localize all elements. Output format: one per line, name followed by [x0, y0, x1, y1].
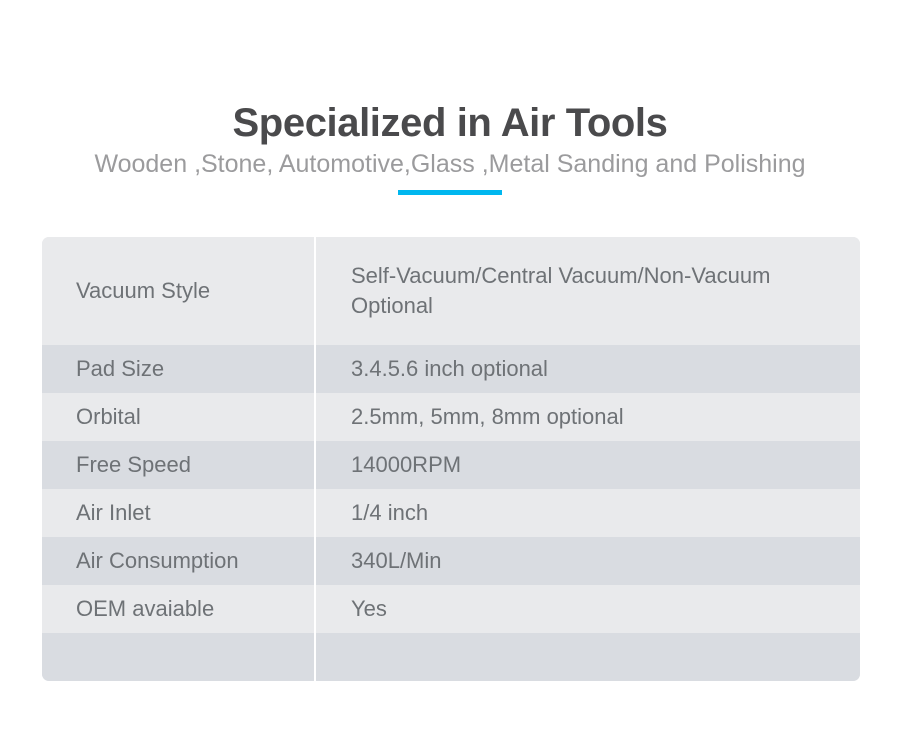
table-row: Air Inlet 1/4 inch — [42, 489, 860, 537]
banner-header: Specialized in Air Tools Wooden ,Stone, … — [0, 100, 900, 196]
spec-value: Self-Vacuum/Central Vacuum/Non-Vacuum Op… — [314, 261, 860, 321]
spec-value: 14000RPM — [314, 450, 860, 480]
spec-label: Orbital — [42, 403, 314, 431]
table-row: Free Speed 14000RPM — [42, 441, 860, 489]
spec-label: Air Consumption — [42, 547, 314, 575]
table-row: Air Consumption 340L/Min — [42, 537, 860, 585]
table-row-empty — [42, 633, 860, 681]
spec-value: 340L/Min — [314, 546, 860, 576]
table-row: Orbital 2.5mm, 5mm, 8mm optional — [42, 393, 860, 441]
table-row: OEM avaiable Yes — [42, 585, 860, 633]
spec-value: Yes — [314, 594, 860, 624]
spec-value: 1/4 inch — [314, 498, 860, 528]
product-spec-banner: Specialized in Air Tools Wooden ,Stone, … — [0, 0, 900, 735]
page-subtitle: Wooden ,Stone, Automotive,Glass ,Metal S… — [0, 149, 900, 179]
spec-label: Free Speed — [42, 451, 314, 479]
spec-value: 2.5mm, 5mm, 8mm optional — [314, 402, 860, 432]
spec-label: Vacuum Style — [42, 277, 314, 305]
specifications-table: Vacuum Style Self-Vacuum/Central Vacuum/… — [42, 237, 860, 681]
spec-label: OEM avaiable — [42, 595, 314, 623]
table-row: Pad Size 3.4.5.6 inch optional — [42, 345, 860, 393]
spec-value: 3.4.5.6 inch optional — [314, 354, 860, 384]
page-title: Specialized in Air Tools — [0, 100, 900, 146]
table-row: Vacuum Style Self-Vacuum/Central Vacuum/… — [42, 237, 860, 345]
accent-bar-container — [0, 190, 900, 196]
spec-label: Air Inlet — [42, 499, 314, 527]
accent-underline-bar — [398, 190, 502, 195]
spec-label: Pad Size — [42, 355, 314, 383]
